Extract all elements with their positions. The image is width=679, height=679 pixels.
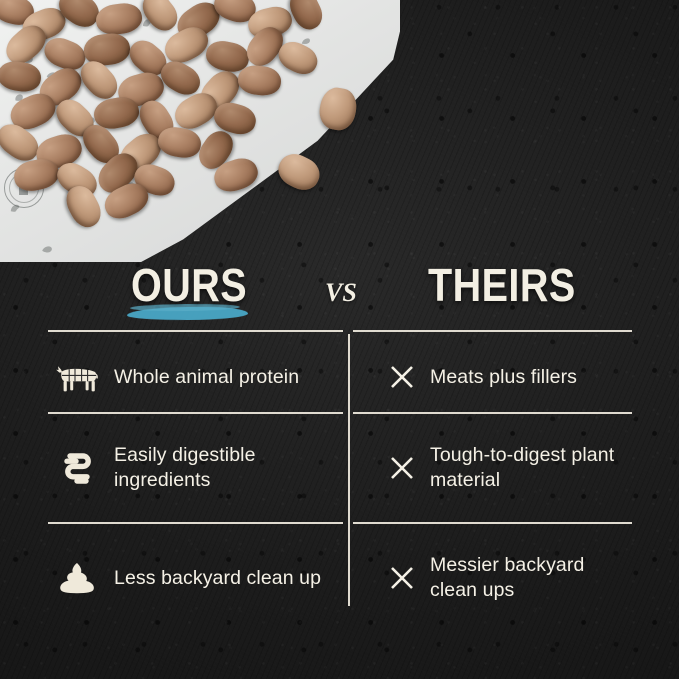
product-photo [0, 0, 400, 262]
theirs-label: Tough-to-digest plant material [430, 443, 632, 493]
row-divider-top-right [353, 330, 632, 332]
stool-icon [54, 560, 100, 596]
table-row: Whole animal protein Meats plus fillers [48, 342, 632, 412]
x-icon [388, 565, 416, 591]
fish-icon [40, 242, 55, 256]
row-divider-1-left [48, 412, 343, 414]
theirs-cell: Meats plus fillers [348, 342, 632, 412]
cow-butcher-cuts-icon [54, 360, 100, 394]
x-icon [388, 364, 416, 390]
table-row: Less backyard clean up Messier backyard … [48, 534, 632, 622]
x-icon [388, 455, 416, 481]
heading-versus: VS [325, 278, 357, 308]
theirs-label: Messier backyard clean ups [430, 553, 632, 603]
ours-cell: Less backyard clean up [48, 534, 348, 622]
ours-cell: Whole animal protein [48, 342, 348, 412]
ours-label: Less backyard clean up [114, 566, 321, 591]
row-divider-2-right [353, 522, 632, 524]
row-divider-2-left [48, 522, 343, 524]
theirs-cell: Tough-to-digest plant material [348, 424, 632, 512]
ours-label: Whole animal protein [114, 365, 299, 390]
theirs-cell: Messier backyard clean ups [348, 534, 632, 622]
ours-cell: Easily digestible ingredients [48, 424, 348, 512]
theirs-label: Meats plus fillers [430, 365, 577, 390]
intestine-icon [54, 448, 100, 488]
row-divider-top-left [48, 330, 343, 332]
comparison-headings: OURS VS THEIRS [0, 256, 679, 320]
table-row: Easily digestible ingredients Tough-to-d… [48, 424, 632, 512]
heading-ours: OURS [131, 262, 247, 308]
heading-theirs: THEIRS [428, 262, 576, 308]
ours-label: Easily digestible ingredients [114, 443, 348, 493]
row-divider-1-right [353, 412, 632, 414]
infographic-canvas: OURS VS THEIRS [0, 0, 679, 679]
